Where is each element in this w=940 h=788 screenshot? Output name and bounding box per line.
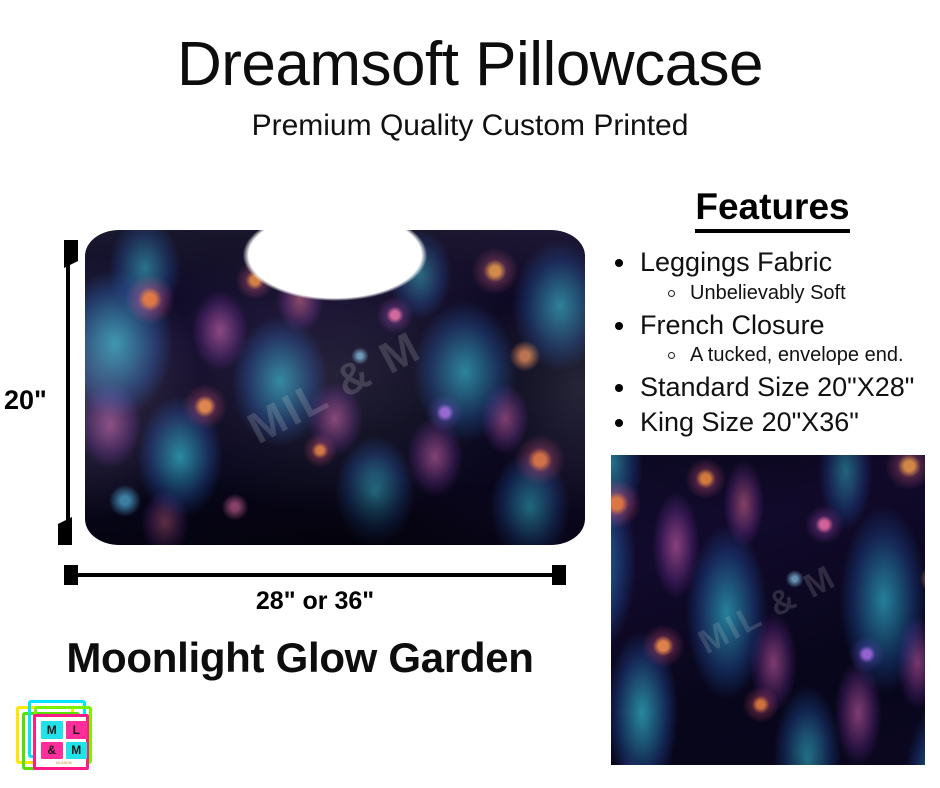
features-heading: Features [605,188,940,233]
feature-item-king-size: King Size 20"X36" [605,406,940,440]
features-list: Leggings Fabric Unbelievably Soft French… [605,246,940,440]
bullet-icon [615,384,623,392]
swatch-fabric-pattern [611,455,925,765]
features-heading-text: Features [695,188,849,233]
feature-label: Leggings Fabric [640,246,940,280]
page-title: Dreamsoft Pillowcase [0,34,940,96]
width-dimension-label: 28" or 36" [85,587,545,616]
logo-cell-2: L [66,721,88,739]
pillow-image: MIL & M [85,230,585,545]
logo-card: M L & M MLANDM [33,714,89,770]
feature-sublabel: A tucked, envelope end. [690,342,940,368]
logo-cell-4: M [66,742,88,760]
feature-label: King Size 20"X36" [640,406,940,440]
feature-label: Standard Size 20"X28" [640,371,940,405]
logo-letter-grid: M L & M [41,721,87,759]
features-panel: Features Leggings Fabric Unbelievably So… [605,188,940,441]
logo-tagline: MLANDM [41,761,87,765]
feature-sublist: Unbelievably Soft [640,280,940,306]
height-dimension-label: 20" [4,385,47,416]
logo-cell-1: M [41,721,63,739]
product-listing-page: Dreamsoft Pillowcase Premium Quality Cus… [0,0,940,788]
feature-item-standard-size: Standard Size 20"X28" [605,371,940,405]
feature-subitem: Unbelievably Soft [640,280,940,306]
logo-cell-3: & [41,742,63,760]
hollow-bullet-icon [668,352,675,359]
bullet-icon [615,322,623,330]
bullet-icon [615,259,623,267]
bullet-icon [615,419,623,427]
product-name: Moonlight Glow Garden [0,634,600,682]
page-subtitle: Premium Quality Custom Printed [0,111,940,141]
hollow-bullet-icon [668,290,675,297]
feature-label: French Closure [640,309,940,343]
feature-subitem: A tucked, envelope end. [640,342,940,368]
height-dimension-arrow [58,240,78,545]
header: Dreamsoft Pillowcase Premium Quality Cus… [0,34,940,141]
feature-sublist: A tucked, envelope end. [640,342,940,368]
pillow-fabric-pattern [85,230,585,545]
pillow-mockup-area: 20" MIL & M 28" or 36" [0,225,600,555]
width-dimension-arrow [64,565,566,585]
feature-item-french-closure: French Closure A tucked, envelope end. [605,309,940,369]
feature-sublabel: Unbelievably Soft [690,280,940,306]
fabric-swatch-image: MIL & M [611,455,925,765]
feature-item-leggings-fabric: Leggings Fabric Unbelievably Soft [605,246,940,306]
brand-logo: M L & M MLANDM [16,700,98,778]
